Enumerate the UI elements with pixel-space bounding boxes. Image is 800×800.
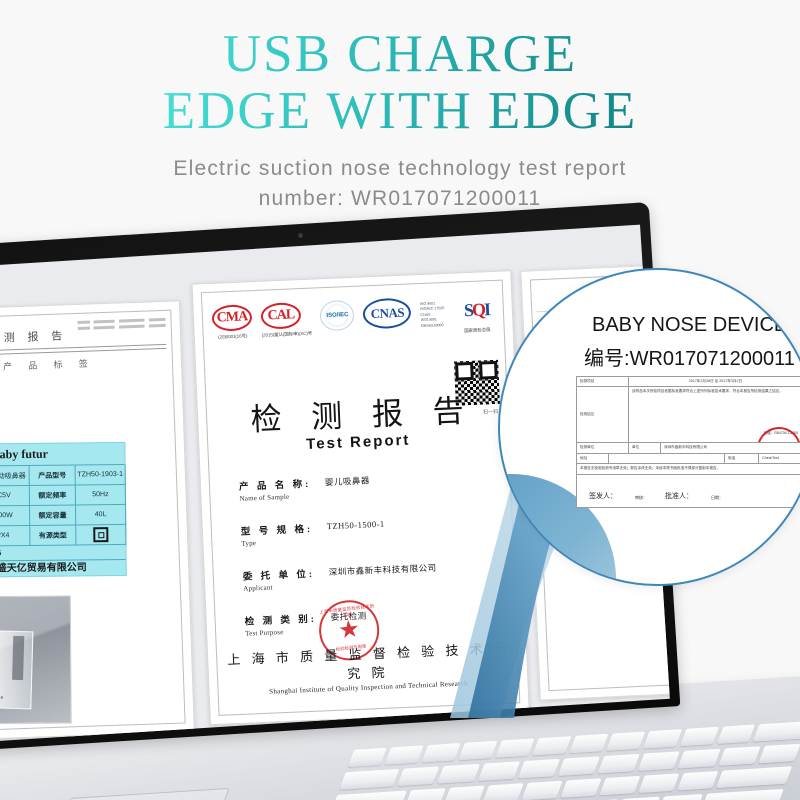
cma-logo-wrap: CMA (20)0001(16号) xyxy=(211,304,252,341)
callout-doc-value: 2017年2月28日 至 2017年3月2日 xyxy=(629,377,800,386)
callout-title: BABY NOSE DEVICE xyxy=(592,314,787,337)
callout-doc-row: 检测项目 2017年2月28日 至 2017年3月2日 xyxy=(577,377,800,387)
device-brand: nose device xyxy=(0,695,4,701)
key[interactable] xyxy=(678,749,721,769)
cal-logo-wrap: CAL (2015)量认(国际审)(XC)号 xyxy=(260,302,312,339)
key[interactable] xyxy=(718,746,761,766)
key[interactable] xyxy=(700,789,783,800)
spec-value: 1500W xyxy=(0,506,30,527)
key[interactable] xyxy=(638,773,679,793)
key[interactable] xyxy=(421,743,460,763)
cnas-logo: CNAS xyxy=(363,297,412,329)
key[interactable] xyxy=(716,724,755,744)
callout-doc-subkey: 地址 xyxy=(577,454,609,463)
key[interactable] xyxy=(606,731,645,751)
subtitle: Electric suction nose technology test re… xyxy=(0,154,800,214)
key[interactable] xyxy=(753,721,800,742)
cal-caption: (2015)量认(国际审)(XC)号 xyxy=(262,331,313,339)
key[interactable] xyxy=(405,788,446,800)
product-photo: nose device xyxy=(0,595,72,724)
spec-value: 儿童电动吸鼻器 xyxy=(0,466,30,487)
certificate-field: 型 号 规 格: Type TZH50-1500-1 xyxy=(241,513,502,548)
spec-brand: baby futur xyxy=(0,443,125,466)
callout-doc-conclusion: 该样品本次所检项目依据标准要求符合上述所列标准技术要求，符合本报告所检测结果之结… xyxy=(632,389,783,393)
certificate-field: 委 托 单 位: Applicant 深圳市鑫新丰科技有限公司 xyxy=(242,558,503,593)
signature-date: 日期： xyxy=(711,495,723,501)
callout-doc-row: 检测结论 该样品本次所检项目依据标准要求符合上述所列标准技术要求，符合本报告所检… xyxy=(577,387,800,443)
iso-iec-logo-wrap: ISO/IEC xyxy=(320,300,355,331)
field-label-cn: 型 号 规 格: xyxy=(241,520,328,538)
key[interactable] xyxy=(558,756,601,776)
spec-qr-icon xyxy=(76,525,126,546)
callout-number-value: WR017071200011 xyxy=(630,348,795,370)
poster-canvas: USB CHARGE EDGE WITH EDGE Electric sucti… xyxy=(0,0,800,800)
star-icon: ★ xyxy=(771,440,788,442)
product-spec-label: baby futur 产品名称 儿童电动吸鼻器 产品型号 TZH50-1903-… xyxy=(0,442,127,578)
spec-key: 产品型号 xyxy=(30,465,76,485)
field-label-cn: 产 品 名 称: xyxy=(239,475,326,493)
signature-issuer: 签发人： xyxy=(589,491,617,501)
field-value: 婴儿吸鼻器 xyxy=(325,473,371,488)
spec-value: 40L xyxy=(76,505,126,526)
callout-doc-label: 检测结论 xyxy=(577,387,629,442)
key[interactable] xyxy=(638,751,681,771)
field-label-en: Type xyxy=(241,536,327,548)
spec-company: 深圳市金盛天亿贸易有限公司 xyxy=(0,560,126,578)
spec-table: 产品名称 儿童电动吸鼻器 产品型号 TZH50-1903-1 产品名称 DC5V… xyxy=(0,464,125,547)
field-label: 型 号 规 格: Type xyxy=(241,520,328,548)
key[interactable] xyxy=(616,797,661,800)
magnifier-callout[interactable]: BABY NOSE DEVICE 编号:WR017071200011 检测项目 … xyxy=(498,268,800,586)
field-label-en: Applicant xyxy=(243,581,329,593)
key[interactable] xyxy=(477,761,520,781)
cma-caption: (20)0001(16号) xyxy=(213,333,253,341)
key[interactable] xyxy=(679,727,718,747)
test-report-certificate[interactable]: CMA (20)0001(16号) CAL (2015)量认(国际审)(XC)号… xyxy=(192,270,530,725)
webcam-icon xyxy=(298,233,303,238)
callout-doc-label: 检测单位 xyxy=(577,443,629,452)
key[interactable] xyxy=(599,776,640,796)
star-icon: ★ xyxy=(337,617,361,643)
key[interactable] xyxy=(521,781,562,800)
key[interactable] xyxy=(598,754,641,774)
callout-seal: ★ xyxy=(755,426,800,443)
key[interactable] xyxy=(716,766,792,788)
key[interactable] xyxy=(437,764,480,784)
callout-doc-label: 检测项目 xyxy=(577,377,629,386)
spec-value: 50Hz xyxy=(76,485,126,506)
spec-value: TZH50-1903-1 xyxy=(76,465,126,486)
key[interactable] xyxy=(443,786,484,800)
header: USB CHARGE EDGE WITH EDGE Electric sucti… xyxy=(0,0,800,214)
field-label-cn: 检 测 类 别: xyxy=(244,610,331,628)
glass-cup xyxy=(0,630,33,709)
callout-doc-value: CheckTest xyxy=(759,454,800,463)
key[interactable] xyxy=(397,766,440,786)
left-document[interactable]: 检 测 报 告 产 品 标 签 审查标准 baby futur 产品名称 xyxy=(0,300,195,741)
spec-value: DC5V xyxy=(0,486,30,507)
headline-line-1: USB CHARGE xyxy=(0,26,800,83)
spec-value: IPX4 xyxy=(0,526,30,547)
key[interactable] xyxy=(658,794,703,800)
sqi-logo-wrap: SQI 国家质检总局 xyxy=(453,294,501,335)
key[interactable] xyxy=(384,745,423,765)
callout-doc-footnote: 本报告无检验检测专用章无效；报告涂改无效；未经本院书面批准不得部分复制本报告。 xyxy=(577,464,800,473)
key[interactable] xyxy=(560,778,601,798)
key[interactable] xyxy=(677,771,718,791)
field-value: 深圳市鑫新丰科技有限公司 xyxy=(328,561,436,579)
iso-line: OHSAS18000 xyxy=(421,323,445,329)
key[interactable] xyxy=(643,729,682,749)
cnas-logo-wrap: CNAS xyxy=(363,297,412,329)
key[interactable] xyxy=(569,734,608,754)
key[interactable] xyxy=(495,738,534,758)
callout-doc-value xyxy=(609,454,725,463)
key[interactable] xyxy=(518,759,561,779)
spec-key: 有源类型 xyxy=(30,525,76,545)
key[interactable] xyxy=(331,790,407,800)
callout-doc-value: 该样品本次所检项目依据标准要求符合上述所列标准技术要求，符合本报告所检测结果之结… xyxy=(629,387,800,442)
cma-logo: CMA xyxy=(211,304,252,332)
sqi-logo: SQI xyxy=(453,294,500,326)
callout-number: 编号:WR017071200011 xyxy=(584,342,795,371)
field-label: 产 品 名 称: Name of Sample xyxy=(239,475,326,503)
iso-standards-text: ISO 9001 ISO/IEC 17025 CNAS ISO14001 OHS… xyxy=(420,296,445,329)
field-value: TZH50-1500-1 xyxy=(327,518,385,531)
field-label-en: Name of Sample xyxy=(239,491,325,503)
cal-logo: CAL xyxy=(260,302,301,330)
callout-doc-subkey: 单位 xyxy=(629,443,661,452)
left-document-title: 检 测 报 告 xyxy=(0,327,68,346)
callout-doc-row: 地址 电话 CheckTest xyxy=(577,454,800,464)
callout-doc-row: 检测单位 单位 深圳市鑫新丰科技有限公司 xyxy=(577,443,800,453)
signature-reviewer: 审核： xyxy=(635,495,647,501)
callout-doc-subkey: 电话 xyxy=(725,454,759,463)
key[interactable] xyxy=(339,769,400,790)
field-label-cn: 委 托 单 位: xyxy=(242,565,329,583)
field-label: 委 托 单 位: Applicant xyxy=(242,565,329,593)
callout-doc-row: 本报告无检验检测专用章无效；报告涂改无效；未经本院书面批准不得部分复制本报告。 xyxy=(577,464,800,474)
key[interactable] xyxy=(482,783,523,800)
signature-approver: 批准人： xyxy=(665,491,693,501)
key[interactable] xyxy=(458,741,497,761)
callout-signatures: 签发人： 审核： 批准人： 日期： xyxy=(589,491,791,501)
headline-line-2: EDGE WITH EDGE xyxy=(0,83,800,140)
key[interactable] xyxy=(758,744,800,764)
callout-document: 检测项目 2017年2月28日 至 2017年3月2日 检测结论 该样品本次所检… xyxy=(576,376,800,508)
key[interactable] xyxy=(532,736,571,756)
callout-doc-value: 深圳市鑫新丰科技有限公司 xyxy=(661,443,800,452)
spec-key: 额定容量 xyxy=(30,505,76,525)
subtitle-line-2: number: WR017071200011 xyxy=(0,184,800,214)
subtitle-line-1: Electric suction nose technology test re… xyxy=(0,154,800,184)
callout-number-label: 编号: xyxy=(584,348,630,370)
spec-key: 额定频率 xyxy=(30,485,76,505)
key[interactable] xyxy=(348,748,387,768)
iso-iec-logo: ISO/IEC xyxy=(320,300,355,331)
